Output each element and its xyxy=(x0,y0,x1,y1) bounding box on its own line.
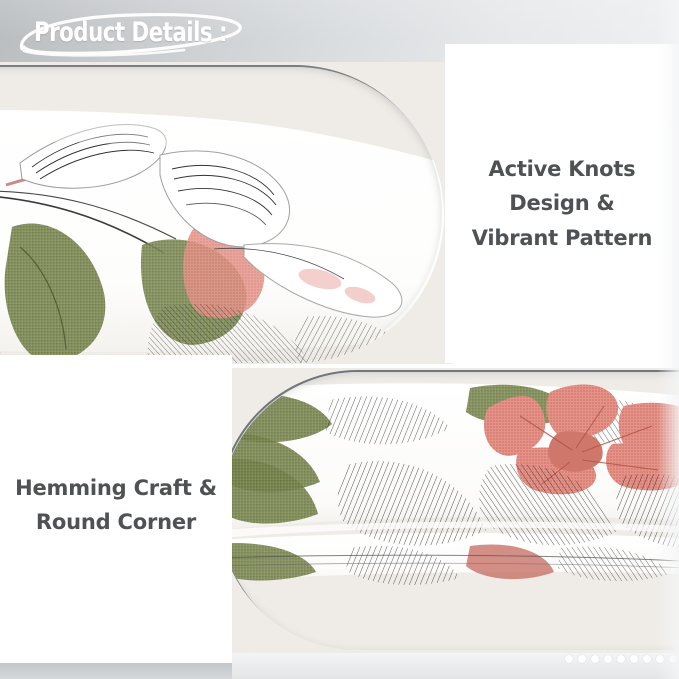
caption-text-left: Hemming Craft & Round Corner xyxy=(5,471,227,539)
caption-panel-left: Hemming Craft & Round Corner xyxy=(0,355,232,655)
bottom-gray-bar xyxy=(0,663,232,679)
caption-panel-right: Active Knots Design & Vibrant Pattern xyxy=(445,44,679,363)
pager-dot xyxy=(617,655,625,663)
page-title: Product Details : xyxy=(34,17,227,48)
knot-detail-photo xyxy=(0,62,452,364)
pager-dot xyxy=(630,655,638,663)
caption-left-line2: Round Corner xyxy=(15,505,217,539)
pager-dot xyxy=(565,655,573,663)
photo-top-pill-frame xyxy=(0,65,442,361)
pager-dot xyxy=(604,655,612,663)
pager-dots xyxy=(565,655,677,663)
fabric-print-illustration-bottom xyxy=(228,372,679,652)
pager-dot xyxy=(669,655,677,663)
pager-dot xyxy=(656,655,664,663)
pager-dot xyxy=(591,655,599,663)
product-details-infographic: Product Details : xyxy=(0,0,679,679)
title-group: Product Details : xyxy=(14,9,344,61)
hemming-corner-photo xyxy=(228,368,679,653)
caption-text-right: Active Knots Design & Vibrant Pattern xyxy=(445,152,679,254)
caption-right-line1: Active Knots Design & xyxy=(455,152,669,220)
fabric-print-illustration-top xyxy=(0,67,444,363)
pager-dot xyxy=(643,655,651,663)
photo-bottom-pill-frame xyxy=(228,370,679,650)
caption-right-line2: Vibrant Pattern xyxy=(455,221,669,255)
pager-dot xyxy=(578,655,586,663)
caption-left-line1: Hemming Craft & xyxy=(15,471,217,505)
